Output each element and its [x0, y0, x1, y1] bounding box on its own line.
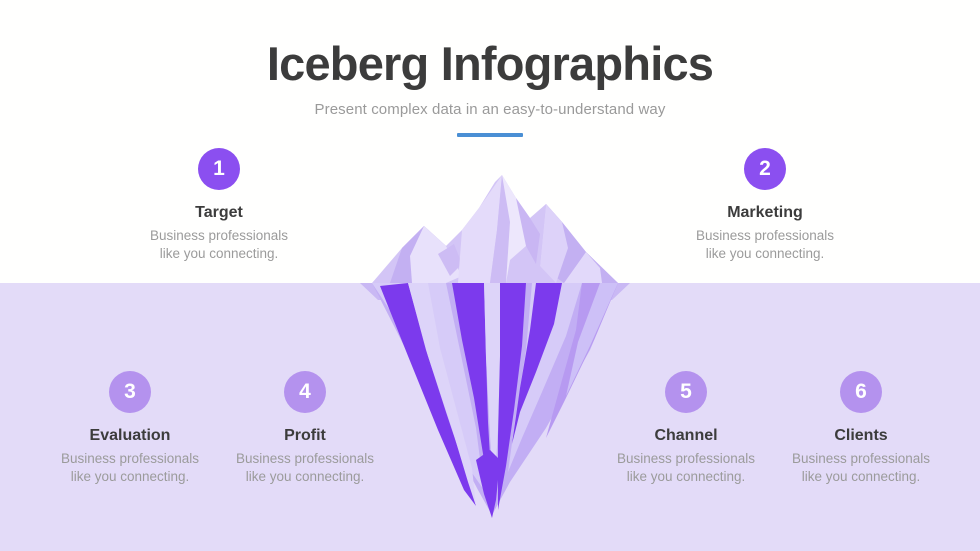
- step-description-5: Business professionals like you connecti…: [586, 445, 786, 486]
- step-title-3: Evaluation: [30, 413, 230, 445]
- step-item-profit[interactable]: 4 Profit Business professionals like you…: [205, 371, 405, 486]
- step-badge-1[interactable]: 1: [198, 148, 240, 190]
- step-item-marketing[interactable]: 2 Marketing Business professionals like …: [665, 148, 865, 263]
- step-description-4: Business professionals like you connecti…: [205, 445, 405, 486]
- step-item-evaluation[interactable]: 3 Evaluation Business professionals like…: [30, 371, 230, 486]
- step-title-2: Marketing: [665, 190, 865, 222]
- step-title-1: Target: [119, 190, 319, 222]
- step-description-1: Business professionals like you connecti…: [119, 222, 319, 263]
- page-title: Iceberg Infographics: [0, 0, 980, 91]
- title-accent-rule: [457, 133, 523, 137]
- step-badge-5[interactable]: 5: [665, 371, 707, 413]
- step-badge-4[interactable]: 4: [284, 371, 326, 413]
- step-title-6: Clients: [761, 413, 961, 445]
- step-item-target[interactable]: 1 Target Business professionals like you…: [119, 148, 319, 263]
- step-badge-6[interactable]: 6: [840, 371, 882, 413]
- page-subtitle: Present complex data in an easy-to-under…: [0, 91, 980, 120]
- step-item-channel[interactable]: 5 Channel Business professionals like yo…: [586, 371, 786, 486]
- iceberg-above-water: [372, 175, 618, 283]
- step-title-4: Profit: [205, 413, 405, 445]
- step-badge-3[interactable]: 3: [109, 371, 151, 413]
- step-description-2: Business professionals like you connecti…: [665, 222, 865, 263]
- slide-canvas: Iceberg Infographics Present complex dat…: [0, 0, 980, 551]
- step-item-clients[interactable]: 6 Clients Business professionals like yo…: [761, 371, 961, 486]
- step-badge-2[interactable]: 2: [744, 148, 786, 190]
- iceberg-below-water: [372, 283, 618, 518]
- step-description-3: Business professionals like you connecti…: [30, 445, 230, 486]
- step-title-5: Channel: [586, 413, 786, 445]
- step-description-6: Business professionals like you connecti…: [761, 445, 961, 486]
- header: Iceberg Infographics Present complex dat…: [0, 0, 980, 137]
